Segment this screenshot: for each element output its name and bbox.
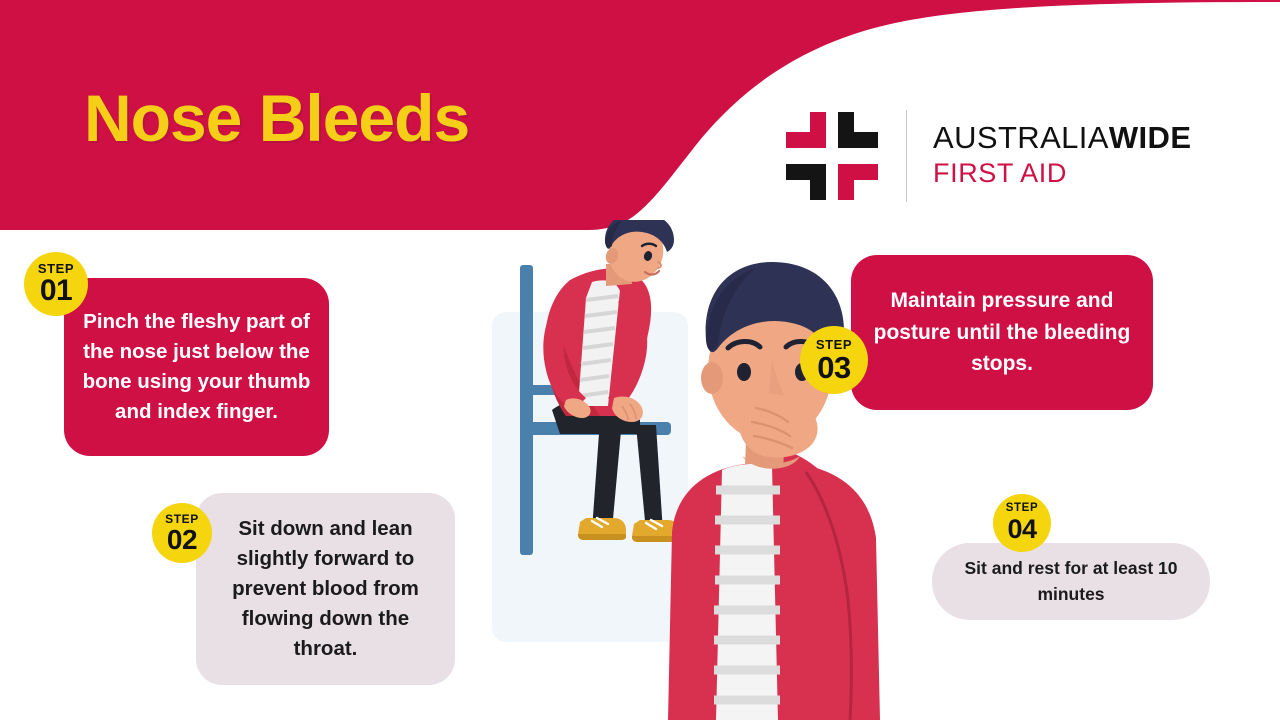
step-badge-01-number: 01 <box>40 276 72 306</box>
brand-logo: AUSTRALIAWIDE FIRST AID <box>780 98 1220 213</box>
step-badge-02-number: 02 <box>167 526 197 554</box>
step-card-02: Sit down and lean slightly forward to pr… <box>196 493 455 685</box>
step-badge-03: STEP 03 <box>800 326 868 394</box>
step-02-text: Sit down and lean slightly forward to pr… <box>212 514 439 665</box>
step-badge-04: STEP 04 <box>993 494 1051 552</box>
step-card-04: Sit and rest for at least 10 minutes <box>932 543 1210 620</box>
step-badge-01: STEP 01 <box>24 252 88 316</box>
step-03-text: Maintain pressure and posture until the … <box>867 285 1137 380</box>
step-01-text: Pinch the fleshy part of the nose just b… <box>78 307 315 428</box>
page-title: Nose Bleeds <box>84 80 469 156</box>
step-badge-02: STEP 02 <box>152 503 212 563</box>
step-badge-03-word: STEP <box>816 338 852 351</box>
logo-divider <box>906 110 907 202</box>
step-card-01: Pinch the fleshy part of the nose just b… <box>64 278 329 456</box>
striped-shirt-closeup <box>714 464 780 720</box>
logo-line-australiawide: AUSTRALIAWIDE <box>933 122 1191 155</box>
infographic-canvas: Nose Bleeds AUSTRALIAWIDE FIRST AID <box>0 0 1280 720</box>
step-badge-02-word: STEP <box>165 513 199 525</box>
logo-wordmark: AUSTRALIAWIDE FIRST AID <box>933 122 1191 190</box>
logo-word-wide: WIDE <box>1109 120 1192 155</box>
step-04-text: Sit and rest for at least 10 minutes <box>946 556 1196 606</box>
cross-logo-icon <box>780 104 884 208</box>
step-badge-03-number: 03 <box>817 352 850 383</box>
logo-word-australia: AUSTRALIA <box>933 120 1109 155</box>
step-card-03: Maintain pressure and posture until the … <box>851 255 1153 410</box>
step-badge-04-number: 04 <box>1007 516 1036 543</box>
logo-line-first-aid: FIRST AID <box>933 158 1191 189</box>
